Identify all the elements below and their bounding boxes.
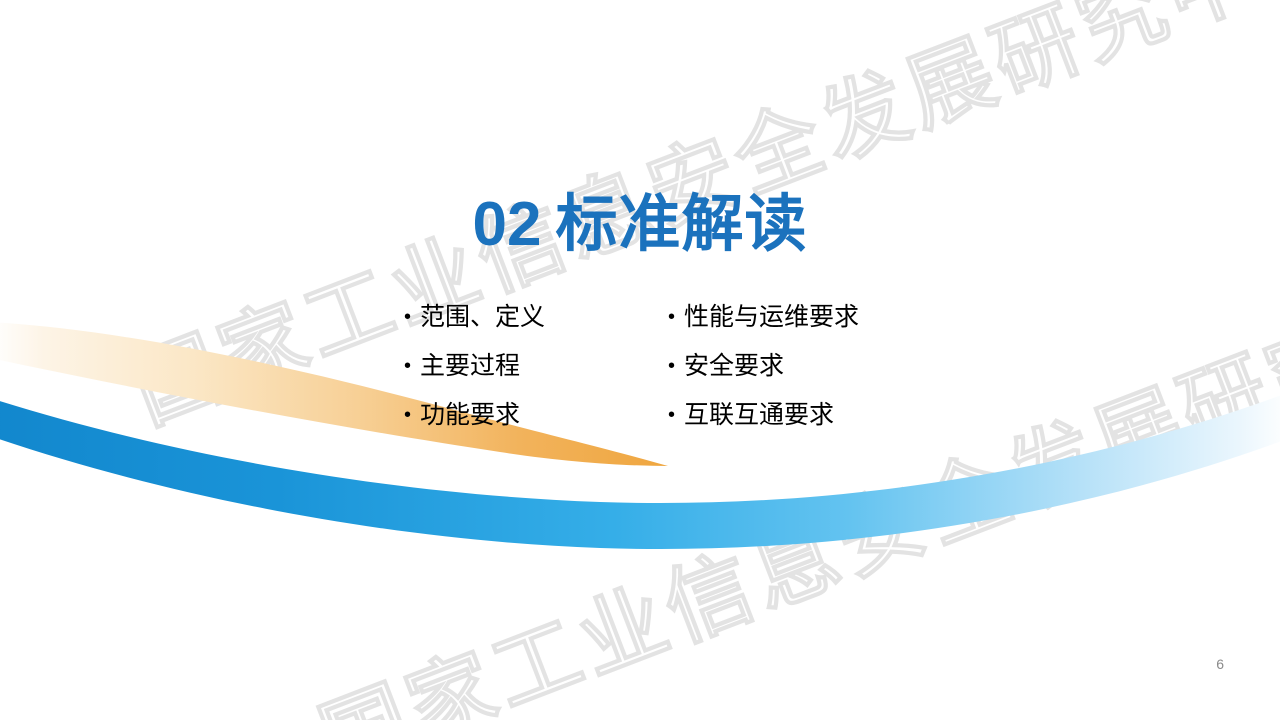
list-item[interactable]: • 功能要求 <box>404 400 668 449</box>
list-item[interactable]: • 范围、定义 <box>404 302 668 351</box>
list-item-label: 范围、定义 <box>420 302 545 332</box>
list-item-label: 性能与运维要求 <box>684 302 859 332</box>
bullet-column-right: • 性能与运维要求 • 安全要求 • 互联互通要求 <box>668 302 964 449</box>
bullet-icon: • <box>668 351 684 381</box>
bullet-icon: • <box>404 351 420 381</box>
list-item-label: 互联互通要求 <box>684 400 834 430</box>
page-title: 02标准解读 <box>0 192 1280 259</box>
list-item[interactable]: • 互联互通要求 <box>668 400 964 449</box>
bullet-column-left: • 范围、定义 • 主要过程 • 功能要求 <box>404 302 668 449</box>
bullet-icon: • <box>668 400 684 430</box>
bullet-icon: • <box>668 302 684 332</box>
list-item[interactable]: • 主要过程 <box>404 351 668 400</box>
bullet-icon: • <box>404 302 420 332</box>
list-item-label: 安全要求 <box>684 351 784 381</box>
section-title: 标准解读 <box>555 190 807 259</box>
list-item-label: 主要过程 <box>420 351 520 381</box>
page-number: 6 <box>1216 656 1224 672</box>
slide-canvas: 国家工业信息安全发展研究中心 国家工业信息安全发展研究中心 <box>0 0 1280 720</box>
section-number: 02 <box>473 190 542 259</box>
list-item[interactable]: • 安全要求 <box>668 351 964 400</box>
bullet-list: • 范围、定义 • 主要过程 • 功能要求 • 性能与运维要求 • <box>404 302 964 449</box>
list-item[interactable]: • 性能与运维要求 <box>668 302 964 351</box>
bullet-icon: • <box>404 400 420 430</box>
slide-content: 02标准解读 • 范围、定义 • 主要过程 • 功能要求 • <box>0 0 1280 720</box>
list-item-label: 功能要求 <box>420 400 520 430</box>
